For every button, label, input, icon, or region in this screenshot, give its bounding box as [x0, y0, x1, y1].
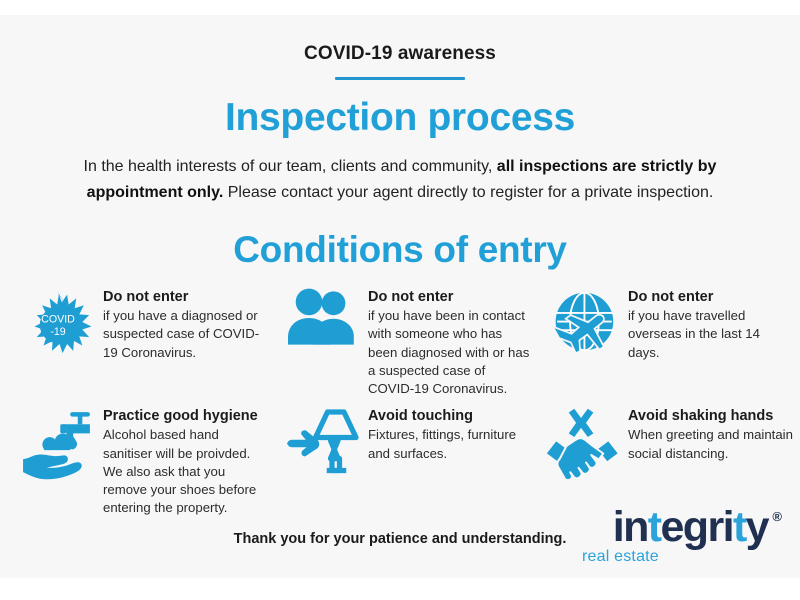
- logo-word-t1: t: [648, 503, 661, 551]
- condition-item-travel: Do not enter if you have travelled overs…: [530, 287, 795, 398]
- condition-title: Avoid touching: [368, 408, 530, 424]
- conditions-grid: COVID -19 Do not enter if you have a dia…: [5, 287, 795, 517]
- poster-canvas: COVID-19 awareness Inspection process In…: [0, 15, 800, 578]
- condition-item-contact: Do not enter if you have been in contact…: [270, 287, 530, 398]
- logo-wordmark: integrity®: [572, 506, 782, 549]
- intro-tail: Please contact your agent directly to re…: [228, 184, 714, 201]
- tap-handwash-icon: [19, 406, 97, 492]
- condition-title: Do not enter: [628, 289, 795, 305]
- page-eyebrow: COVID-19 awareness: [0, 15, 800, 65]
- condition-text: Avoid touching Fixtures, fittings, furni…: [368, 406, 530, 462]
- logo-tagline: real estate: [582, 548, 659, 566]
- title-divider: [335, 77, 465, 80]
- condition-body: if you have travelled overseas in the la…: [628, 307, 795, 362]
- condition-title: Practice good hygiene: [103, 408, 270, 424]
- covid-badge-line1: COVID: [41, 314, 75, 326]
- condition-text: Avoid shaking hands When greeting and ma…: [628, 406, 795, 462]
- covid-virus-icon: COVID -19: [19, 287, 97, 367]
- condition-item-hygiene: Practice good hygiene Alcohol based hand…: [5, 406, 270, 517]
- logo-word-part3: y: [746, 503, 768, 551]
- condition-text: Practice good hygiene Alcohol based hand…: [103, 406, 270, 517]
- globe-airplane-icon: [544, 287, 622, 367]
- condition-title: Do not enter: [368, 289, 530, 305]
- condition-item-covid-case: COVID -19 Do not enter if you have a dia…: [5, 287, 270, 398]
- condition-title: Avoid shaking hands: [628, 408, 795, 424]
- condition-body: When greeting and maintain social distan…: [628, 426, 795, 462]
- intro-lead: In the health interests of our team, cli…: [84, 158, 493, 175]
- condition-text: Do not enter if you have a diagnosed or …: [103, 287, 270, 362]
- two-people-icon: [284, 287, 362, 367]
- lamp-pointing-hand-icon: [284, 406, 362, 492]
- condition-body: if you have been in contact with someone…: [368, 307, 530, 398]
- logo-word-part1: in: [613, 503, 648, 551]
- condition-text: Do not enter if you have travelled overs…: [628, 287, 795, 362]
- conditions-heading: Conditions of entry: [0, 229, 800, 271]
- condition-text: Do not enter if you have been in contact…: [368, 287, 530, 398]
- integrity-logo: integrity® real estate: [572, 506, 782, 568]
- logo-word-part2: egri: [660, 503, 732, 551]
- condition-body: Fixtures, fittings, furniture and surfac…: [368, 426, 530, 462]
- covid-badge-line2: -19: [50, 326, 65, 338]
- logo-word-t2: t: [733, 503, 746, 551]
- intro-paragraph: In the health interests of our team, cli…: [55, 154, 745, 205]
- registered-trademark-icon: ®: [772, 510, 782, 523]
- condition-title: Do not enter: [103, 289, 270, 305]
- page-title: Inspection process: [0, 96, 800, 140]
- condition-body: if you have a diagnosed or suspected cas…: [103, 307, 270, 362]
- condition-body: Alcohol based hand sanitiser will be pro…: [103, 426, 270, 517]
- condition-item-handshake: Avoid shaking hands When greeting and ma…: [530, 406, 795, 517]
- condition-item-touching: Avoid touching Fixtures, fittings, furni…: [270, 406, 530, 517]
- handshake-cross-icon: [544, 406, 622, 492]
